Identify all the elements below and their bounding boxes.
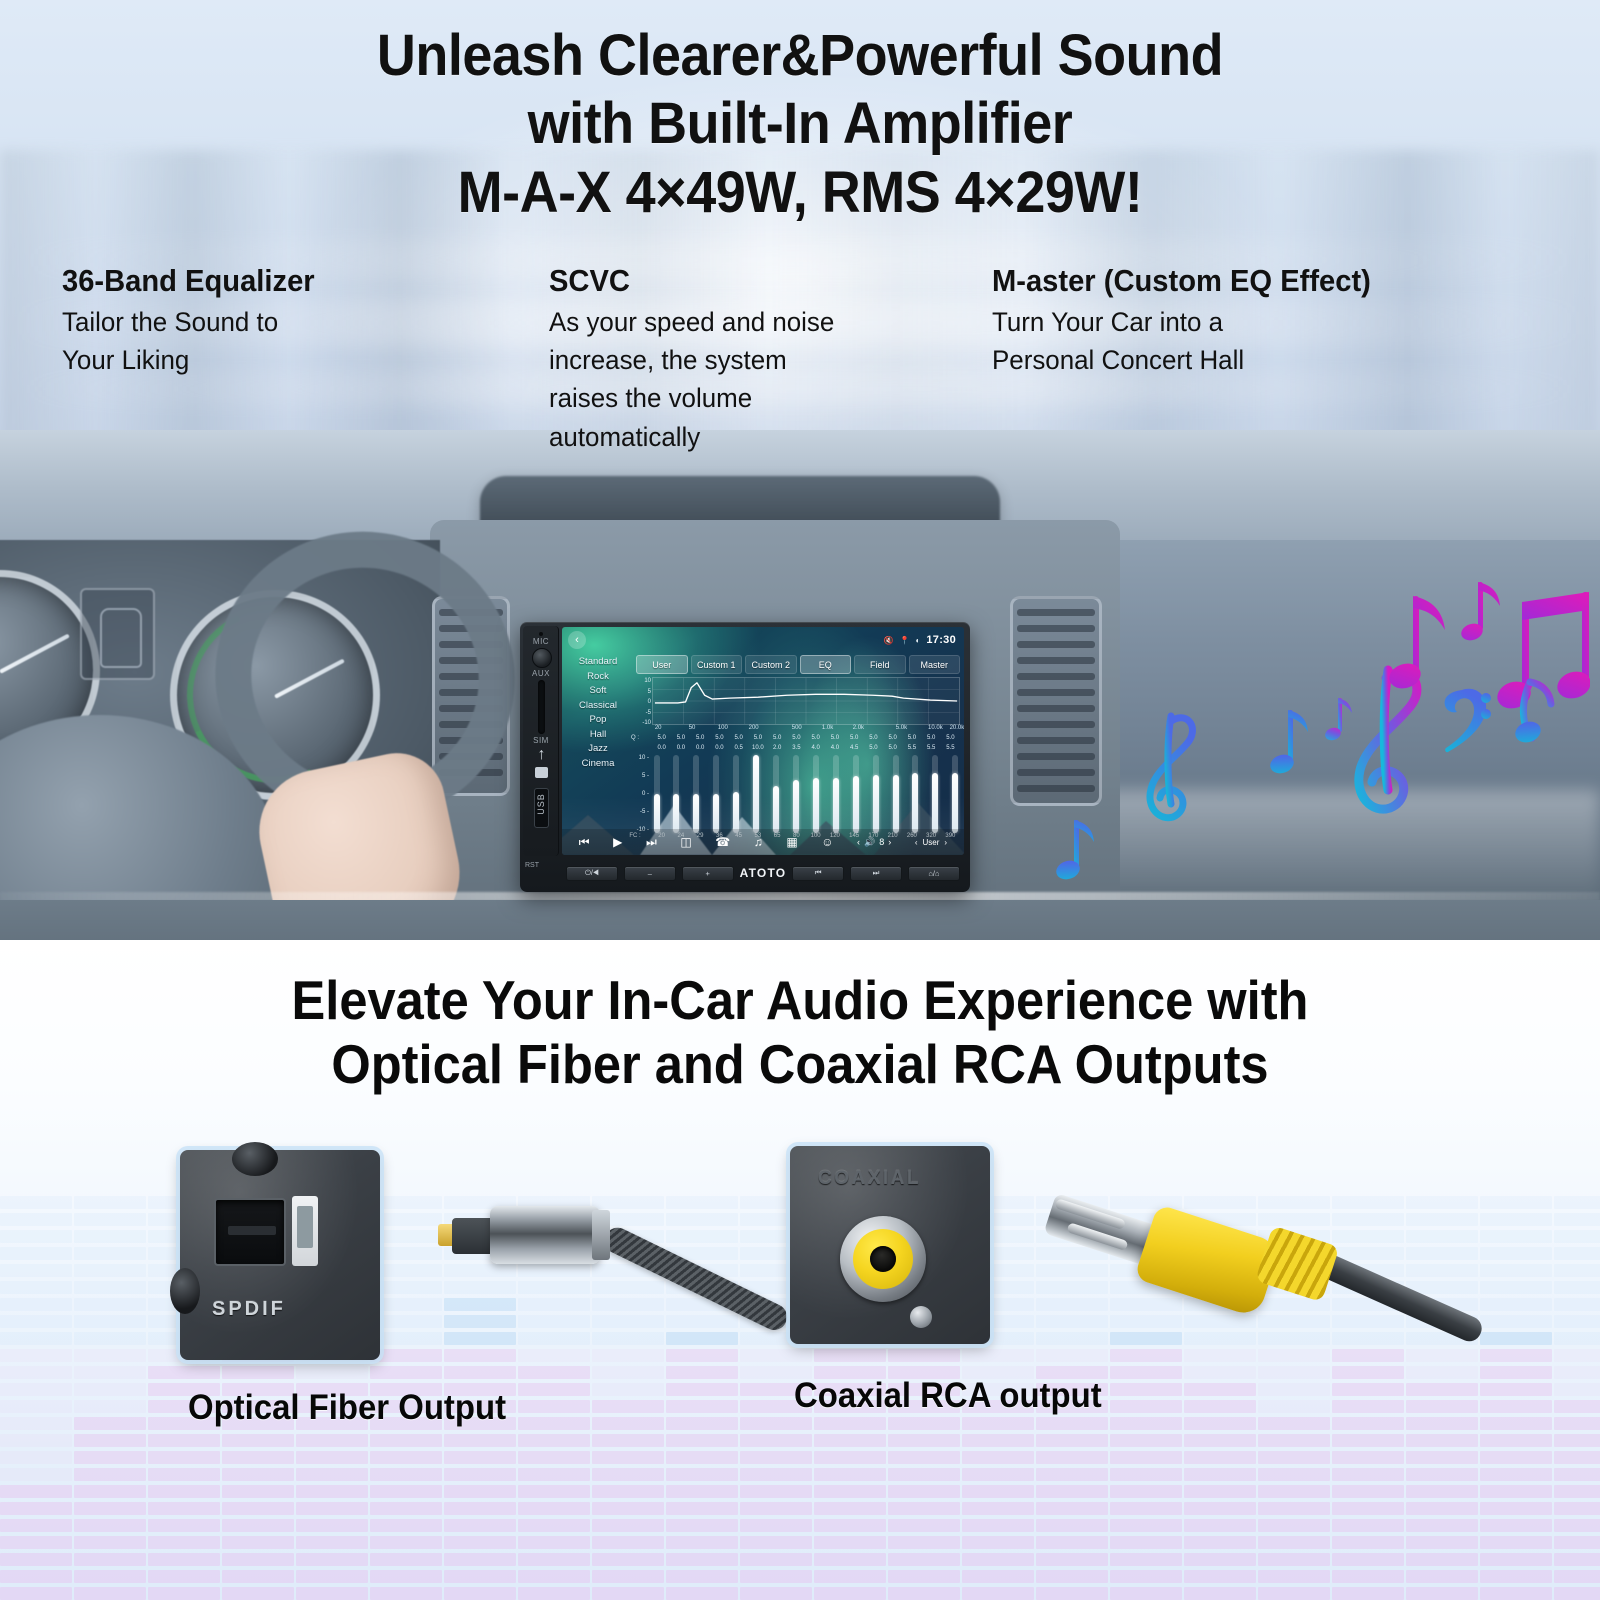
eq-bar-segment [0,1536,72,1549]
y-tick: 10 [636,678,651,684]
q-row-label: Q : [631,735,639,741]
curve-y-axis: 10 5 0 -5 -10 [636,678,652,726]
eq-bar-segment [1332,1468,1404,1481]
rca-jack[interactable] [840,1216,926,1302]
eq-bar-segment [370,1536,442,1549]
eq-bar-segment [222,1536,294,1549]
reset-label: RST [525,862,539,869]
optical-output-caption: Optical Fiber Output [188,1388,506,1428]
eq-bar-segment [1258,1536,1330,1549]
freq-tick: 500 [792,725,802,731]
rca-yellow-insert [853,1229,913,1289]
rca-plug-grip [1255,1225,1339,1302]
q-value: 5.0 [831,735,839,741]
eq-band-slider[interactable] [772,755,781,833]
eq-bar-segment [1332,1570,1404,1583]
slider-thumb[interactable] [654,794,660,833]
y-tick: 5 [636,689,651,695]
slider-thumb[interactable] [693,794,699,833]
white-connector-block [292,1196,318,1266]
eq-bar-segment [518,1485,590,1498]
hero-headline: Unleash Clearer&Powerful Sound with Buil… [56,22,1544,227]
eq-bar-segment [740,1502,812,1515]
eq-bar-segment [888,1536,960,1549]
eq-bar-segment [1406,1570,1478,1583]
coaxial-output-caption: Coaxial RCA output [794,1376,1102,1416]
eq-bar-segment [962,1468,1034,1481]
eq-bar-segment [370,1570,442,1583]
face-icon[interactable]: ☺ [821,835,833,849]
profile-next-icon[interactable]: › [944,838,947,847]
eq-bar-segment [888,1553,960,1566]
gain-value: 4.0 [811,745,819,751]
gain-tick: 10 - [635,755,649,761]
music-notes-decoration [1030,520,1590,890]
eq-bar-segment [1184,1519,1256,1532]
eq-bar-segment [518,1519,590,1532]
y-tick: 0 [636,699,651,705]
next-track-button[interactable]: ⏭ [850,866,902,881]
eq-bar-segment [148,1485,220,1498]
eq-bar-segment [0,1587,72,1600]
eq-band-slider[interactable] [871,755,880,833]
wifi-icon: ◐ [916,636,921,645]
eq-bar-segment [592,1485,664,1498]
eq-band-slider[interactable] [672,755,681,833]
eq-bar-segment [1554,1485,1600,1498]
eq-bar-segment [370,1587,442,1600]
eq-bar-segment [1110,1485,1182,1498]
tab-user[interactable]: User [636,655,688,674]
eq-bar-segment [1258,1485,1330,1498]
eq-bar-segment [1258,1502,1330,1515]
eq-bar-segment [592,1519,664,1532]
eject-arrow-icon: ↑ [534,746,549,764]
rca-plug-barrel [1134,1204,1282,1318]
volume-down-button[interactable]: – [624,866,676,881]
eq-band-slider[interactable] [732,755,741,833]
eq-band-slider[interactable] [791,755,800,833]
eq-bar-segment [1184,1587,1256,1600]
preset-item[interactable]: Pop [590,713,607,727]
mic-port-label: MIC [523,637,559,646]
optical-plug-collar [592,1210,610,1260]
eq-bar-segment [888,1468,960,1481]
eq-bar-segment [666,1536,738,1549]
preset-item[interactable]: Cinema [582,757,615,771]
tab-eq[interactable]: EQ [800,655,852,674]
eq-bar-segment [148,1502,220,1515]
slider-thumb[interactable] [673,794,679,833]
eq-bar-segment [1258,1468,1330,1481]
screen-bottom-bar[interactable]: ⏮ ▶ ⏭ ◫ ☎ ♫ ▦ ☺ ‹ 🔊 8 › ‹ User › [562,829,964,855]
eq-bar-segment [370,1468,442,1481]
slider-thumb[interactable] [733,792,739,833]
eq-band-slider[interactable] [891,755,900,833]
gain-value: 4.5 [850,745,858,751]
eq-bar-segment [1332,1536,1404,1549]
eq-bar-segment [1406,1519,1478,1532]
tab-field[interactable]: Field [854,655,906,674]
gain-value: 5.5 [908,745,916,751]
eq-bar-segment [740,1587,812,1600]
previous-track-icon[interactable]: ⏮ [579,835,590,850]
eq-band-slider[interactable] [911,755,920,833]
back-button[interactable]: ‹ [568,631,586,649]
q-value: 5.0 [850,735,858,741]
eq-bar-segment [222,1519,294,1532]
eq-bar-segment [814,1570,886,1583]
slider-thumb[interactable] [773,786,779,833]
eq-bar-segment [1554,1468,1600,1481]
balance-fader-icon[interactable]: ◫ [680,835,691,849]
optical-cable [600,1223,791,1334]
feature-desc: Turn Your Car into a Personal Concert Ha… [992,303,1516,380]
phone-icon[interactable]: ☎ [715,835,730,849]
yellow-rca-connector [1050,1172,1350,1302]
hardware-button-row[interactable]: ⏻/◀ – + ATOTO ⏮ ⏭ ⌂/⌂ [562,860,964,886]
spdif-label: SPDIF [212,1298,286,1321]
eq-bar-segment [1480,1468,1552,1481]
gain-value: 0.0 [677,745,685,751]
eq-bar-segment [518,1536,590,1549]
slider-thumb[interactable] [793,780,799,833]
eq-bar-segment [1258,1587,1330,1600]
q-value: 5.0 [792,735,800,741]
volume-decrease-icon[interactable]: ‹ [857,837,860,847]
eq-bar-segment [888,1519,960,1532]
eq-bar-segment [1554,1570,1600,1583]
freq-tick: 200 [749,725,759,731]
eq-bar-segment [962,1570,1034,1583]
eq-bar-segment [666,1587,738,1600]
eq-bar-segment [1258,1570,1330,1583]
eq-bar-segment [222,1570,294,1583]
eq-bar-segment [1036,1468,1108,1481]
head-unit-touchscreen[interactable]: ‹ 🔇 📍 ◐ 17:30 Standard Rock Soft Classic… [562,627,964,855]
eq-bar-segment [1480,1570,1552,1583]
eq-bar-segment [1110,1502,1182,1515]
eq-bar-segment [592,1587,664,1600]
eq-bar-segment [370,1553,442,1566]
port-showcase: SPDIF Optical Fiber Output COAXIAL [0,1136,1600,1466]
eq-bar-segment [222,1587,294,1600]
eq-bar-segment [74,1468,146,1481]
feature-scvc: SCVC As your speed and noise increase, t… [549,262,992,456]
tab-custom-1[interactable]: Custom 1 [691,655,743,674]
eq-bar-segment [74,1502,146,1515]
eq-band-slider[interactable] [851,755,860,833]
eq-band-slider[interactable] [652,755,661,833]
eq-bar-segment [444,1502,516,1515]
eq-bar-segment [222,1502,294,1515]
eq-bar-segment [1258,1519,1330,1532]
frequency-axis: 20 50 100 200 500 1.0k 2.0k 5.0k 10.0k 2… [652,725,960,735]
eq-bar-segment [592,1468,664,1481]
eq-bar-segment [444,1485,516,1498]
eq-bar-segment [1406,1485,1478,1498]
eq-bar-segment [518,1587,590,1600]
preset-item[interactable]: Jazz [588,742,608,756]
home-button[interactable]: ⌂/⌂ [908,866,960,881]
eq-bar-segment [740,1570,812,1583]
preset-item[interactable]: Classical [579,699,617,713]
eq-bar-segment [962,1536,1034,1549]
eq-bar-segment [296,1553,368,1566]
status-clock: 17:30 [926,634,956,646]
q-value: 5.0 [754,735,762,741]
eq-bar-segment [814,1519,886,1532]
screen-content: Standard Rock Soft Classical Pop Hall Ja… [562,653,964,829]
volume-increase-icon[interactable]: › [888,837,891,847]
eq-bar-segment [1332,1502,1404,1515]
gain-value: 4.0 [831,745,839,751]
eq-bar-segment [0,1502,72,1515]
slider-thumb[interactable] [853,776,859,833]
coaxial-port-face: COAXIAL [790,1146,990,1344]
q-value: 5.0 [715,735,723,741]
eq-bar-segment [1554,1519,1600,1532]
volume-stepper[interactable]: ‹ 🔊 8 › [857,837,891,848]
eq-bar-segment [148,1553,220,1566]
screen-status-bar: ‹ 🔇 📍 ◐ 17:30 [562,627,964,653]
eq-bar-segment [296,1485,368,1498]
eq-bar-segment [1184,1502,1256,1515]
eq-band-slider[interactable] [931,755,940,833]
gain-value: 10.0 [752,745,764,751]
eq-bar-segment [74,1570,146,1583]
previous-track-button[interactable]: ⏮ [792,866,844,881]
eq-bar-segment [740,1519,812,1532]
freq-tick: 10.0k [928,725,943,731]
headline-line-2: with Built-In Amplifier [56,90,1544,158]
eq-bar-segment [296,1502,368,1515]
eq-bar-segment [1554,1502,1600,1515]
brand-logo: ATOTO [740,866,787,880]
headline-line-1: Unleash Clearer&Powerful Sound [56,22,1544,90]
eq-bar-segment [296,1536,368,1549]
head-unit-side-ports: MIC AUX SIM ↑ USB [523,626,559,856]
location-pin-icon: 📍 [900,636,910,645]
eq-bar-segment [518,1570,590,1583]
eq-bar-segment [444,1536,516,1549]
eq-bar-segment [740,1536,812,1549]
eq-band-slider[interactable] [811,755,820,833]
power-mute-button[interactable]: ⏻/◀ [566,866,618,881]
eq-band-slider[interactable] [951,755,960,833]
eq-bar-segment [740,1553,812,1566]
outputs-section: Elevate Your In-Car Audio Experience wit… [0,940,1600,1600]
eq-bar-segment [666,1485,738,1498]
eq-bar-segment [1036,1553,1108,1566]
eq-bar-segment [1184,1553,1256,1566]
eq-bar-segment [1184,1536,1256,1549]
eq-bar-segment [0,1553,72,1566]
profile-label: User [923,838,940,847]
eq-bar-segment [666,1570,738,1583]
q-value: 5.0 [734,735,742,741]
toslink-optical-connector [452,1188,662,1284]
apps-grid-icon[interactable]: ▦ [786,835,797,849]
eq-bar-segment [1110,1536,1182,1549]
tab-custom-2[interactable]: Custom 2 [745,655,797,674]
preset-item[interactable]: Standard [579,655,618,669]
q-value: 5.0 [946,735,954,741]
freq-tick: 100 [718,725,728,731]
eq-bar-segment [1554,1587,1600,1600]
eq-bar-segment [1110,1587,1182,1600]
eq-bar-segment [1110,1570,1182,1583]
eq-bar-segment [1406,1536,1478,1549]
dashboard-lower [0,900,1600,940]
eq-bar-segment [1480,1485,1552,1498]
slider-thumb[interactable] [813,778,819,833]
eq-bar-segment [814,1468,886,1481]
q-value: 5.0 [696,735,704,741]
eq-band-slider[interactable] [712,755,721,833]
eq-bar-segment [888,1570,960,1583]
eq-bar-segment [222,1468,294,1481]
coaxial-label: COAXIAL [818,1168,921,1190]
feature-master: M-aster (Custom EQ Effect) Turn Your Car… [992,262,1538,456]
eq-bar-segment [1554,1536,1600,1549]
eq-bar-segment [1184,1570,1256,1583]
eq-bar-segment [148,1468,220,1481]
eq-bar-segment [666,1468,738,1481]
preset-item[interactable]: Hall [590,728,606,742]
q-value: 5.0 [908,735,916,741]
eq-bar-segment [592,1570,664,1583]
gain-value: 5.0 [869,745,877,751]
aux-jack-icon[interactable] [532,648,552,668]
slider-thumb[interactable] [873,775,879,834]
profile-previous-icon[interactable]: ‹ [915,838,918,847]
tab-master[interactable]: Master [909,655,961,674]
eq-bar-segment [444,1570,516,1583]
eq-bar-segment [740,1468,812,1481]
eq-bar-segment [666,1519,738,1532]
music-note-icon[interactable]: ♫ [754,835,763,849]
sd-card-icon [535,767,548,778]
eq-bar-segment [74,1587,146,1600]
feature-equalizer: 36-Band Equalizer Tailor the Sound to Yo… [62,262,549,456]
slider-thumb[interactable] [833,778,839,833]
eq-bar-segment [444,1587,516,1600]
play-icon[interactable]: ▶ [613,835,622,849]
rca-cable [1311,1249,1486,1345]
freq-tick: 20.0k [950,725,964,731]
eq-bar-segment [148,1519,220,1532]
preset-item[interactable]: Soft [590,684,607,698]
slider-thumb[interactable] [932,773,938,833]
eq-bar-segment [740,1485,812,1498]
rca-center-hole [870,1246,896,1272]
usb-port-label: USB [536,782,546,826]
lower-headline-line-1: Elevate Your In-Car Audio Experience wit… [64,968,1536,1032]
q-value: 5.0 [927,735,935,741]
eq-tab-bar[interactable]: User Custom 1 Custom 2 EQ Field Master [636,655,960,674]
next-track-icon[interactable]: ⏭ [646,835,657,850]
eq-band-slider[interactable] [692,755,701,833]
eq-bar-segment [1110,1519,1182,1532]
aux-port-label: AUX [523,669,559,678]
eq-bar-segment [1110,1468,1182,1481]
gain-value: 0.0 [657,745,665,751]
eq-bar-segment [1036,1502,1108,1515]
eq-bar-segment [814,1502,886,1515]
eq-bar-segment [444,1468,516,1481]
eq-bar-segment [1332,1553,1404,1566]
sim-slot-icon[interactable] [538,680,545,734]
slider-thumb[interactable] [713,794,719,833]
q-value: 5.0 [811,735,819,741]
eq-band-slider[interactable] [752,755,761,833]
eq-bar-segment [1480,1553,1552,1566]
eq-bar-segment [296,1587,368,1600]
equalizer-pane: User Custom 1 Custom 2 EQ Field Master 1… [634,653,964,829]
freq-tick: 2.0k [853,725,864,731]
eq-bar-segment [0,1519,72,1532]
spdif-port-face: SPDIF [180,1150,380,1360]
q-value: 5.0 [677,735,685,741]
eq-band-sliders[interactable]: 10 - 5 - 0 - -5 - -10 - [652,755,960,833]
spdif-optical-slot[interactable] [214,1198,286,1266]
volume-up-button[interactable]: + [682,866,734,881]
slider-thumb[interactable] [912,773,918,833]
round-port-hole [232,1142,278,1176]
gain-value: 3.5 [792,745,800,751]
eq-bar-segment [1184,1468,1256,1481]
q-value: 5.0 [888,735,896,741]
eq-bar-segment [518,1502,590,1515]
slider-thumb[interactable] [893,775,899,834]
eq-bar-segment [962,1502,1034,1515]
eq-bar-segment [518,1553,590,1566]
eq-bar-segment [1036,1587,1108,1600]
q-factor-row: Q : 5.05.05.05.05.05.05.05.05.05.05.05.0… [652,735,960,745]
profile-stepper[interactable]: ‹ User › [915,838,947,847]
feature-title: 36-Band Equalizer [62,262,520,300]
eq-band-slider[interactable] [831,755,840,833]
feature-title: M-aster (Custom EQ Effect) [992,262,1505,300]
eq-bar-segment [1554,1553,1600,1566]
eq-bar-segment [592,1553,664,1566]
gain-tick: 5 - [635,773,649,779]
eq-bar-segment [74,1553,146,1566]
gain-value: 0.5 [734,745,742,751]
eq-bar-segment [370,1519,442,1532]
eq-bar-segment [0,1468,72,1481]
preset-item[interactable]: Rock [587,670,609,684]
eq-preset-list[interactable]: Standard Rock Soft Classical Pop Hall Ja… [562,653,634,829]
gain-value: 0.0 [715,745,723,751]
eq-bar-segment [1332,1485,1404,1498]
eq-bar-segment [1036,1485,1108,1498]
eq-bar-segment [74,1485,146,1498]
freq-tick: 50 [689,725,696,731]
gain-value: 5.0 [888,745,896,751]
gain-tick: -5 - [635,809,649,815]
gain-axis: 10 - 5 - 0 - -5 - -10 - [635,755,651,833]
eq-bar-segment [1480,1536,1552,1549]
eq-bar-segment [1332,1519,1404,1532]
eq-bar-segment [1036,1570,1108,1583]
slider-thumb[interactable] [753,755,759,833]
slider-thumb[interactable] [952,773,958,833]
eq-bar-segment [814,1536,886,1549]
multi-function-display [80,588,155,680]
eq-bar-segment [962,1553,1034,1566]
